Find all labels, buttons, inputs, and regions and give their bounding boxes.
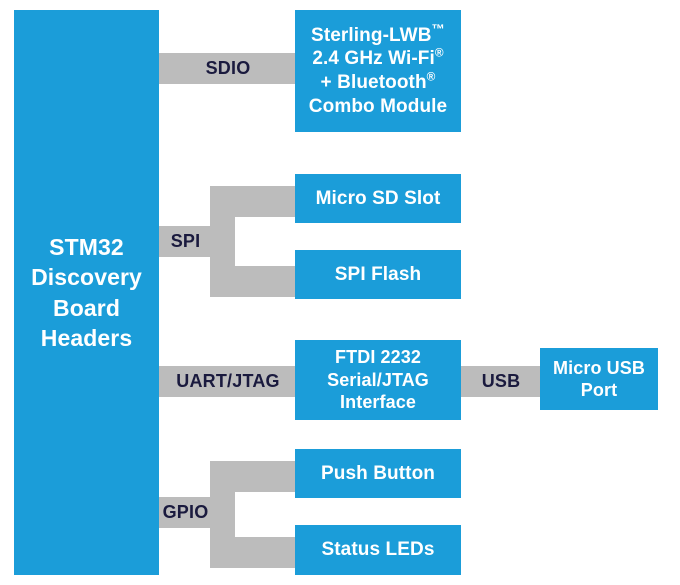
block-push-button: Push Button <box>295 449 461 498</box>
wifi-module-line-1: Sterling-LWB™ <box>311 24 445 48</box>
block-ftdi-2232-serial-jtag-interface: FTDI 2232 Serial/JTAG Interface <box>295 340 461 420</box>
block-sterling-lwb-wifi-bluetooth-module: Sterling-LWB™ 2.4 GHz Wi-Fi® + Bluetooth… <box>295 10 461 132</box>
wifi-module-line-2: 2.4 GHz Wi-Fi® <box>312 47 443 71</box>
bracket-spi-top-arm <box>210 186 296 217</box>
registered-mark-bluetooth: ® <box>427 71 436 84</box>
wifi-module-line-4: Combo Module <box>309 95 447 119</box>
band-sdio: SDIO <box>159 53 297 84</box>
bracket-gpio-top-arm <box>210 461 296 492</box>
bracket-spi-bottom-arm <box>210 266 296 297</box>
registered-mark-wifi: ® <box>435 47 444 60</box>
band-uart-jtag: UART/JTAG <box>159 366 297 397</box>
wifi-module-line-3: + Bluetooth® <box>321 71 436 95</box>
bracket-gpio-bottom-arm <box>210 537 296 568</box>
block-status-leds: Status LEDs <box>295 525 461 575</box>
band-gpio: GPIO <box>159 497 212 528</box>
block-stm32-discovery-board-headers: STM32 Discovery Board Headers <box>14 10 159 575</box>
block-spi-flash: SPI Flash <box>295 250 461 299</box>
trademark-mark: ™ <box>432 21 445 36</box>
band-spi: SPI <box>159 226 212 257</box>
band-usb: USB <box>461 366 541 397</box>
block-micro-usb-port: Micro USB Port <box>540 348 658 410</box>
block-micro-sd-slot: Micro SD Slot <box>295 174 461 223</box>
block-diagram-canvas: STM32 Discovery Board Headers SDIO Sterl… <box>0 0 680 585</box>
